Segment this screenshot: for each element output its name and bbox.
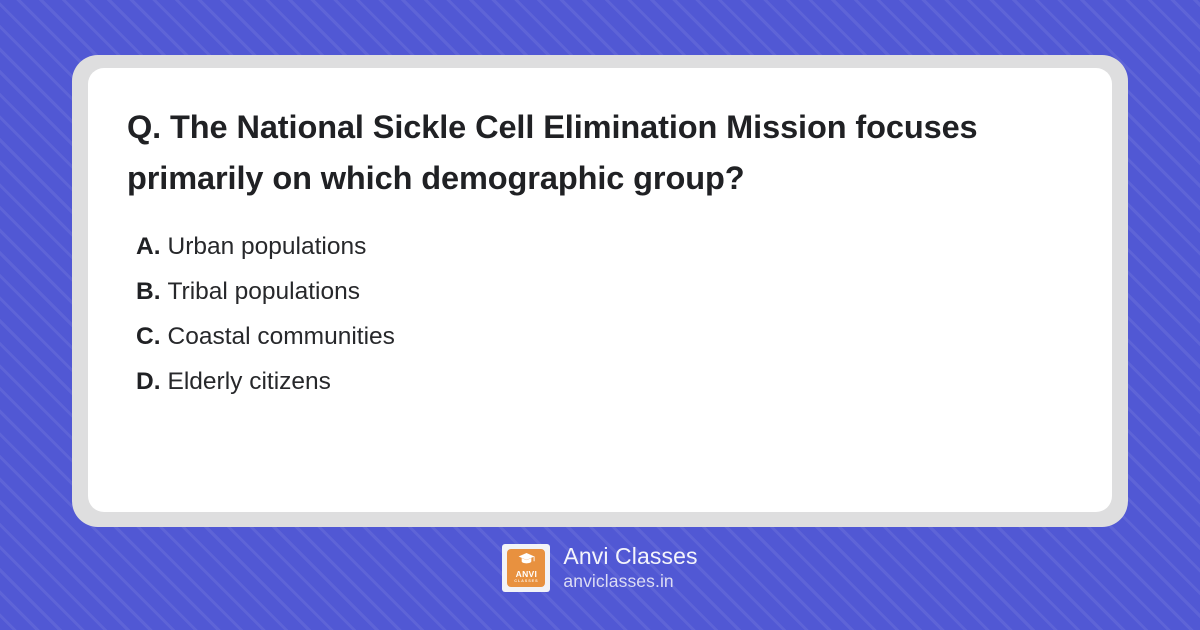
option-b-label: Tribal populations [168, 269, 360, 314]
brand-logo: ANVI CLASSES [502, 544, 550, 592]
brand-name: Anvi Classes [563, 543, 697, 570]
option-c-letter: C. [136, 314, 161, 359]
question-text: Q. The National Sickle Cell Elimination … [127, 102, 1072, 204]
brand-footer: ANVI CLASSES Anvi Classes anviclasses.in [0, 543, 1200, 592]
brand-url[interactable]: anviclasses.in [563, 570, 697, 592]
option-b-letter: B. [136, 269, 161, 314]
options-list: A. Urban populations B. Tribal populatio… [127, 224, 1076, 404]
option-a[interactable]: A. Urban populations [127, 224, 1076, 269]
option-c-label: Coastal communities [168, 314, 395, 359]
option-d-letter: D. [136, 359, 161, 404]
question-card-frame: Q. The National Sickle Cell Elimination … [72, 55, 1128, 527]
option-b[interactable]: B. Tribal populations [127, 269, 1076, 314]
brand-logo-name: ANVI [516, 570, 538, 579]
question-card: Q. The National Sickle Cell Elimination … [88, 68, 1112, 512]
option-c[interactable]: C. Coastal communities [127, 314, 1076, 359]
brand-logo-tile: ANVI CLASSES [507, 549, 545, 587]
option-d-label: Elderly citizens [168, 359, 331, 404]
option-a-letter: A. [136, 224, 161, 269]
brand-logo-subtitle: CLASSES [514, 580, 538, 584]
brand-text-block: Anvi Classes anviclasses.in [563, 543, 697, 592]
question-card-content: Q. The National Sickle Cell Elimination … [88, 68, 1112, 404]
quiz-poster: Q. The National Sickle Cell Elimination … [0, 0, 1200, 630]
option-d[interactable]: D. Elderly citizens [127, 359, 1076, 404]
option-a-label: Urban populations [168, 224, 367, 269]
graduation-cap-icon [518, 552, 535, 568]
